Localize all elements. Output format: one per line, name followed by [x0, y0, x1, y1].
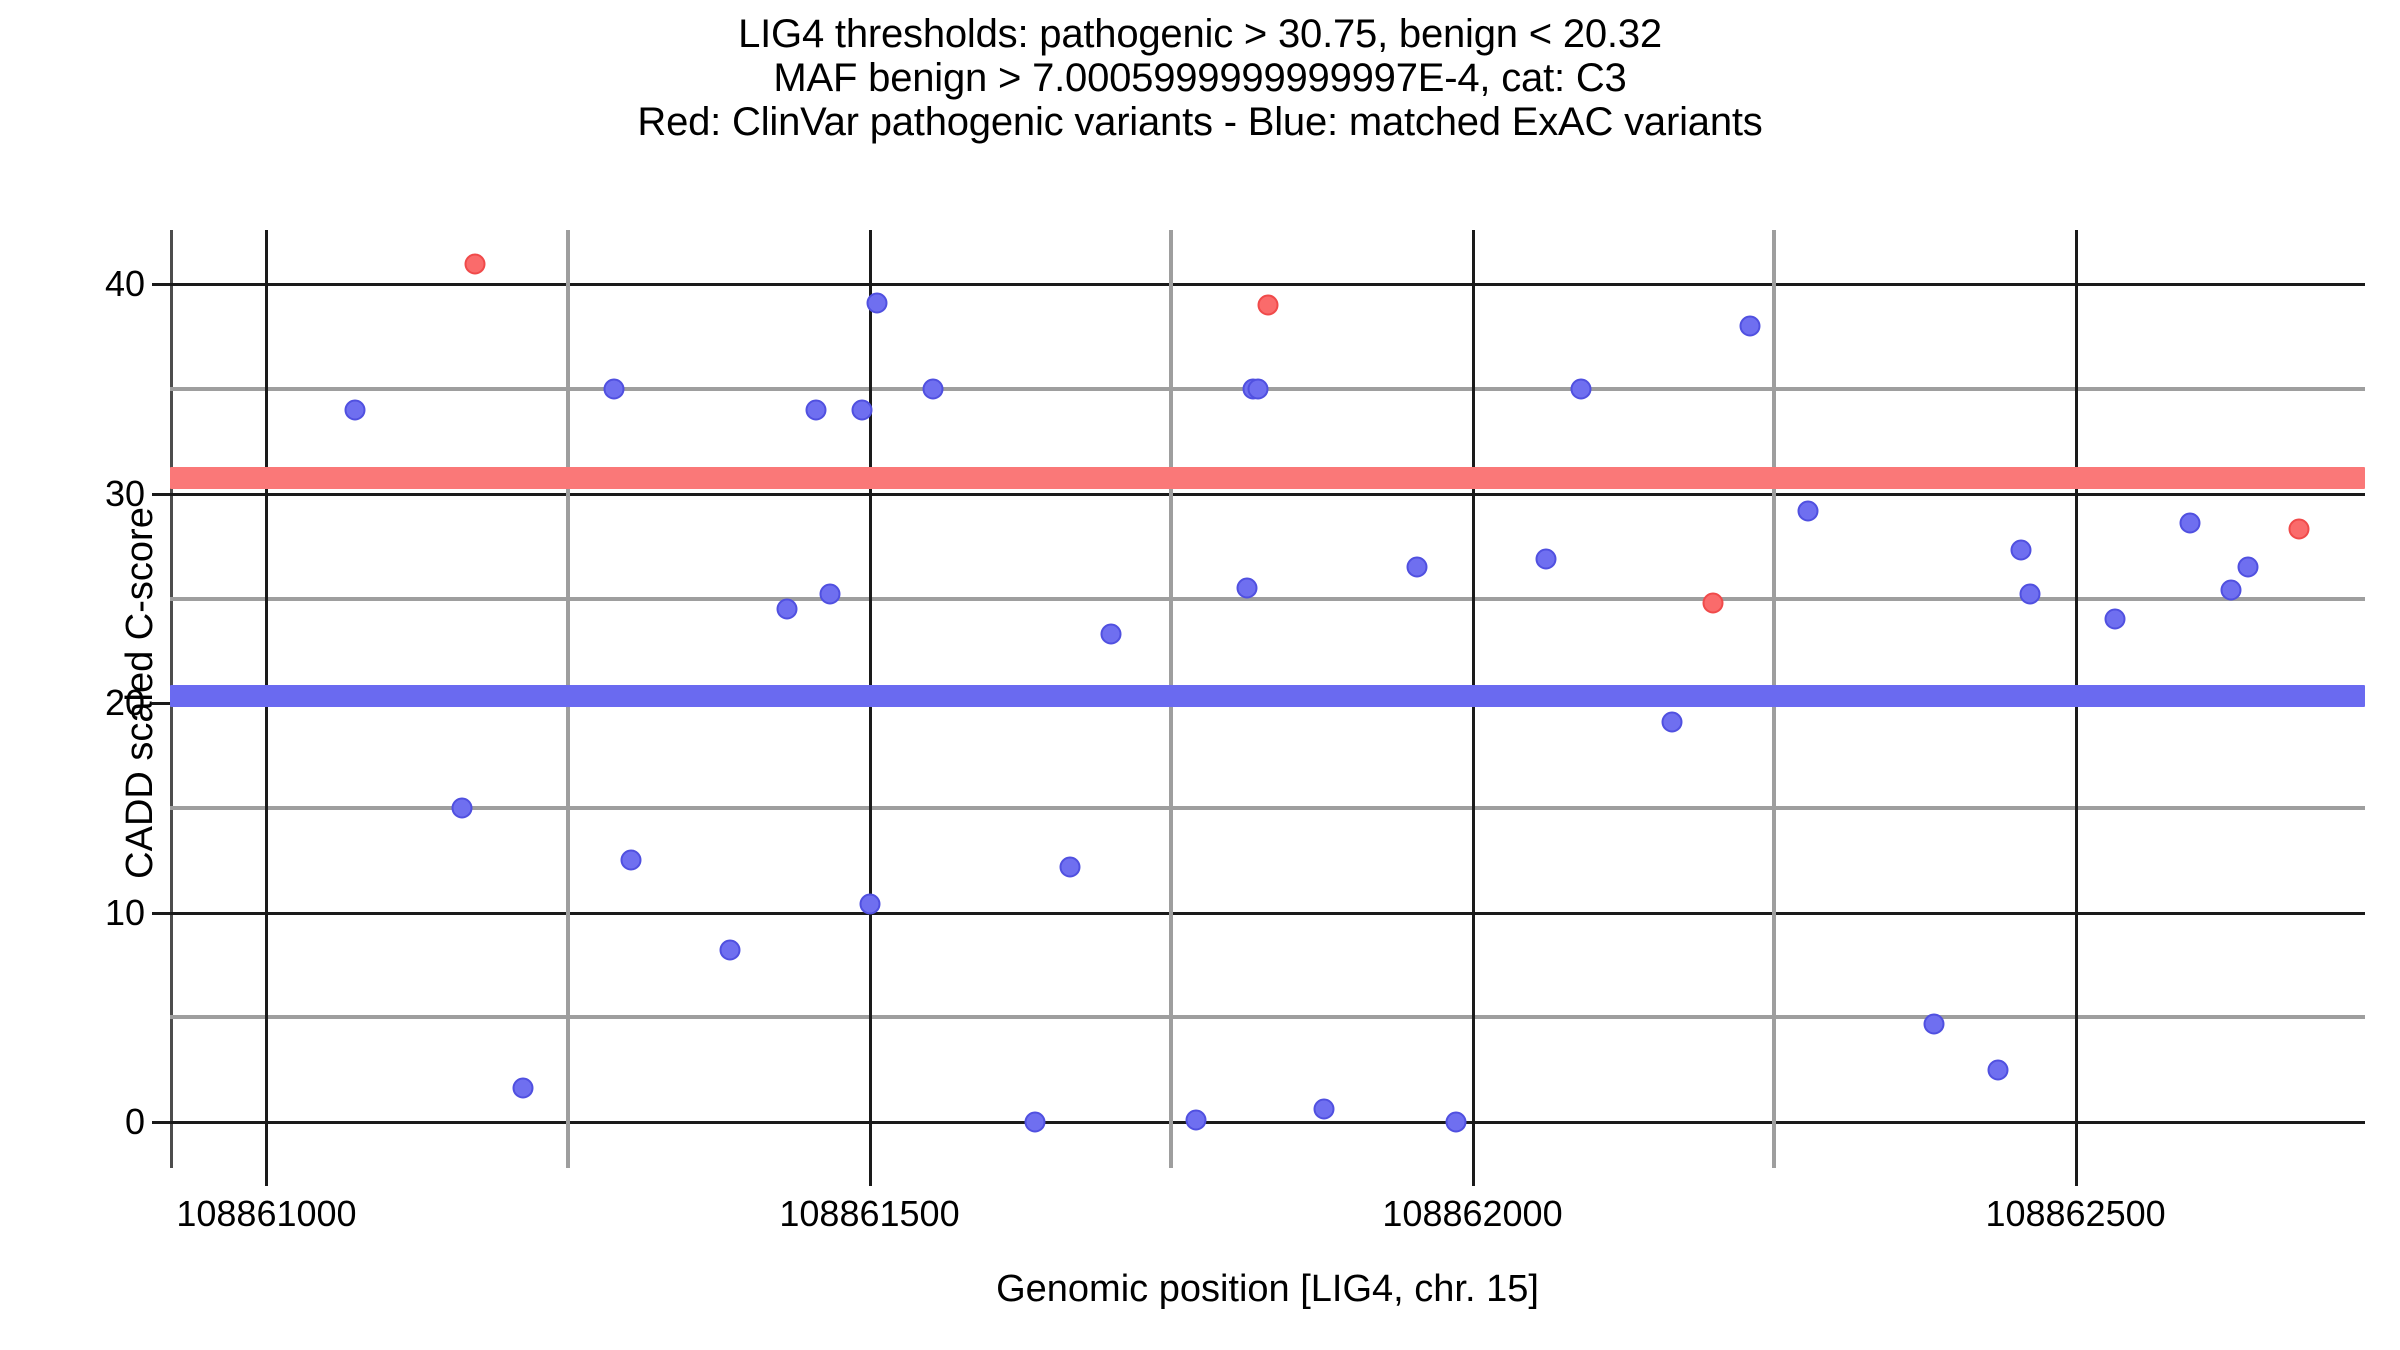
x-tick-label: 108862500: [1926, 1196, 2226, 1232]
x-axis-title: Genomic position [LIG4, chr. 15]: [170, 1268, 2365, 1310]
data-point-benign[interactable]: [819, 584, 840, 605]
data-point-benign[interactable]: [1247, 379, 1268, 400]
data-point-benign[interactable]: [1924, 1013, 1945, 1034]
benign-threshold-band: [170, 685, 2365, 707]
data-point-benign[interactable]: [1739, 316, 1760, 337]
x-tick-label: 108862000: [1323, 1196, 1623, 1232]
x-tick-mark: [1472, 1168, 1475, 1186]
x-axis-tick-labels: 108861000108861500108862000108862500: [170, 1196, 2365, 1246]
data-point-benign[interactable]: [2238, 557, 2259, 578]
scatter-chart: LIG4 thresholds: pathogenic > 30.75, ben…: [0, 0, 2400, 1350]
data-point-benign[interactable]: [2019, 584, 2040, 605]
gridline-horizontal-major: [170, 1121, 2365, 1124]
data-point-benign[interactable]: [513, 1078, 534, 1099]
data-point-benign[interactable]: [866, 293, 887, 314]
data-point-benign[interactable]: [852, 400, 873, 421]
data-point-benign[interactable]: [777, 598, 798, 619]
data-point-benign[interactable]: [1059, 856, 1080, 877]
data-point-benign[interactable]: [2105, 609, 2126, 630]
data-point-pathogenic[interactable]: [1257, 295, 1278, 316]
gridline-horizontal-minor: [170, 806, 2365, 810]
plot-area: [170, 230, 2365, 1168]
data-point-pathogenic[interactable]: [2288, 519, 2309, 540]
gridline-horizontal-major: [170, 912, 2365, 915]
x-tick-mark: [869, 1168, 872, 1186]
chart-title: LIG4 thresholds: pathogenic > 30.75, ben…: [0, 12, 2400, 144]
data-point-benign[interactable]: [1024, 1111, 1045, 1132]
data-point-benign[interactable]: [1536, 548, 1557, 569]
data-point-benign[interactable]: [1571, 379, 1592, 400]
x-tick-mark: [2075, 1168, 2078, 1186]
data-point-benign[interactable]: [1661, 712, 1682, 733]
data-point-benign[interactable]: [2180, 513, 2201, 534]
data-point-benign[interactable]: [603, 379, 624, 400]
data-point-benign[interactable]: [2011, 540, 2032, 561]
data-point-benign[interactable]: [806, 400, 827, 421]
data-point-benign[interactable]: [719, 940, 740, 961]
gridline-horizontal-major: [170, 493, 2365, 496]
data-point-pathogenic[interactable]: [1702, 592, 1723, 613]
data-point-benign[interactable]: [2221, 580, 2242, 601]
gridline-horizontal-minor: [170, 1015, 2365, 1019]
data-point-benign[interactable]: [1314, 1099, 1335, 1120]
data-point-benign[interactable]: [1445, 1111, 1466, 1132]
data-point-benign[interactable]: [1407, 557, 1428, 578]
pathogenic-threshold-band: [170, 467, 2365, 489]
chart-title-line-2: MAF benign > 7.0005999999999997E-4, cat:…: [0, 56, 2400, 100]
gridline-horizontal-major: [170, 283, 2365, 286]
data-point-pathogenic[interactable]: [465, 253, 486, 274]
x-tick-label: 108861500: [720, 1196, 1020, 1232]
data-point-benign[interactable]: [923, 379, 944, 400]
data-point-benign[interactable]: [1988, 1059, 2009, 1080]
data-point-benign[interactable]: [1236, 578, 1257, 599]
chart-title-line-1: LIG4 thresholds: pathogenic > 30.75, ben…: [0, 12, 2400, 56]
data-point-benign[interactable]: [859, 894, 880, 915]
data-point-benign[interactable]: [451, 797, 472, 818]
data-point-benign[interactable]: [1100, 624, 1121, 645]
data-point-benign[interactable]: [620, 850, 641, 871]
data-point-benign[interactable]: [1797, 500, 1818, 521]
x-tick-mark: [265, 1168, 268, 1186]
data-point-benign[interactable]: [1186, 1109, 1207, 1130]
y-axis-title: CADD scaled C-score: [119, 223, 161, 1163]
x-tick-label: 108861000: [116, 1196, 416, 1232]
data-point-benign[interactable]: [344, 400, 365, 421]
chart-title-line-3: Red: ClinVar pathogenic variants - Blue:…: [0, 100, 2400, 144]
